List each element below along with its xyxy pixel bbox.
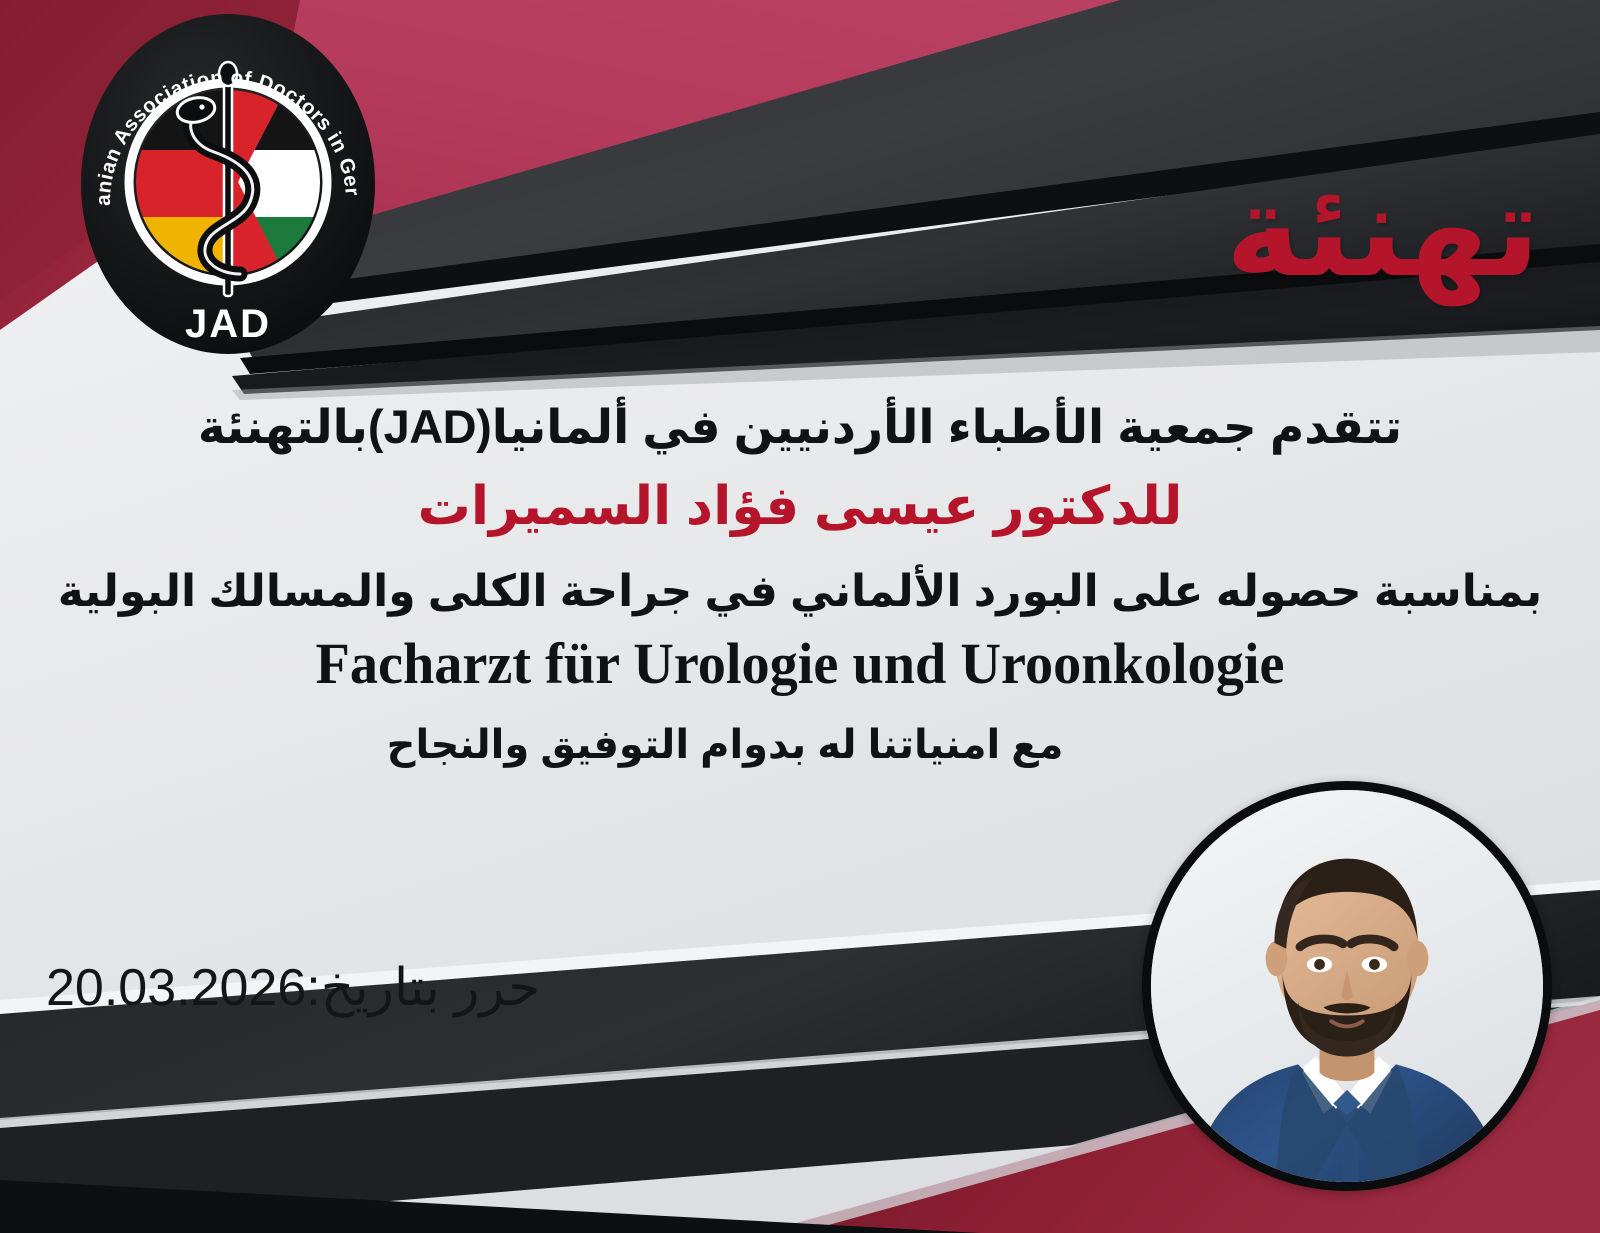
intro-line: تتقدم جمعية الأطباء الأردنيين في ألمانيا… xyxy=(24,398,1576,457)
congratulation-poster: Jordanian Association of Doctors in Germ… xyxy=(0,0,1600,1233)
logo-abbreviation: JAD xyxy=(185,302,271,346)
german-title-line: Facharzt für Urologie und Uroonkologie xyxy=(47,628,1552,701)
wishes-line: مع امنياتنا له بدوام التوفيق والنجاح xyxy=(24,718,1576,772)
jad-logo: Jordanian Association of Doctors in Germ… xyxy=(78,12,378,357)
avatar xyxy=(1142,781,1552,1191)
message-body: تتقدم جمعية الأطباء الأردنيين في ألمانيا… xyxy=(0,398,1600,772)
honoree-name: للدكتور عيسى فؤاد السميرات xyxy=(24,467,1576,547)
issue-date: حرر بتاريخ:20.03.2026 xyxy=(46,958,540,1018)
occasion-line: بمناسبة حصوله على البورد الألماني في جرا… xyxy=(24,562,1576,621)
page-title: تهنئة xyxy=(1225,168,1540,296)
